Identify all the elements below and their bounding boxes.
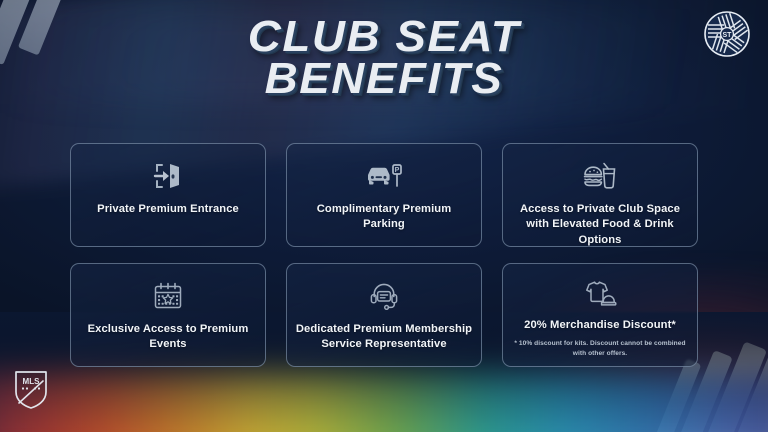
page-title-line-2: BENEFITS xyxy=(0,58,768,100)
page-title: CLUB SEAT BENEFITS xyxy=(0,16,768,100)
burger-drink-icon xyxy=(582,159,618,193)
slide-canvas: ST CLUB SEAT BENEFITS Private Premium En… xyxy=(0,0,768,432)
mls-shield-logo: MLS xyxy=(14,370,48,410)
tshirt-cap-icon xyxy=(583,279,617,309)
benefit-card-private-premium-entrance[interactable]: Private Premium Entrance xyxy=(70,143,266,247)
page-title-line-1: CLUB SEAT xyxy=(0,16,768,58)
club-crest-watermark xyxy=(0,0,92,84)
benefit-card-private-club-space[interactable]: Access to Private Club Space with Elevat… xyxy=(502,143,698,247)
club-crest-logo: ST xyxy=(704,11,750,57)
benefit-card-footnote: * 10% discount for kits. Discount cannot… xyxy=(511,339,689,358)
car-parking-sign-icon: P xyxy=(365,159,403,193)
benefit-card-label: Complimentary Premium Parking xyxy=(295,202,473,233)
svg-text:ST: ST xyxy=(723,32,733,39)
benefits-grid: Private Premium Entrance P Complimentary… xyxy=(70,143,698,367)
door-entrance-icon xyxy=(151,159,185,193)
background-sheen-secondary xyxy=(0,9,768,104)
background-rainbow-band xyxy=(0,368,768,432)
svg-text:P: P xyxy=(395,167,400,174)
benefit-card-label: Dedicated Premium Membership Service Rep… xyxy=(295,322,473,353)
benefit-card-merchandise-discount[interactable]: 20% Merchandise Discount* * 10% discount… xyxy=(502,263,698,367)
benefit-card-complimentary-premium-parking[interactable]: P Complimentary Premium Parking xyxy=(286,143,482,247)
benefit-card-label: Access to Private Club Space with Elevat… xyxy=(511,202,689,248)
benefit-card-label: Private Premium Entrance xyxy=(97,202,239,217)
calendar-star-icon xyxy=(152,279,184,313)
benefit-card-label: Exclusive Access to Premium Events xyxy=(79,322,257,353)
benefit-card-dedicated-service-representative[interactable]: Dedicated Premium Membership Service Rep… xyxy=(286,263,482,367)
mls-shield-text: MLS xyxy=(23,377,41,386)
benefit-card-label: 20% Merchandise Discount* xyxy=(524,318,676,333)
benefit-card-exclusive-premium-events[interactable]: Exclusive Access to Premium Events xyxy=(70,263,266,367)
headset-support-icon xyxy=(368,279,400,313)
